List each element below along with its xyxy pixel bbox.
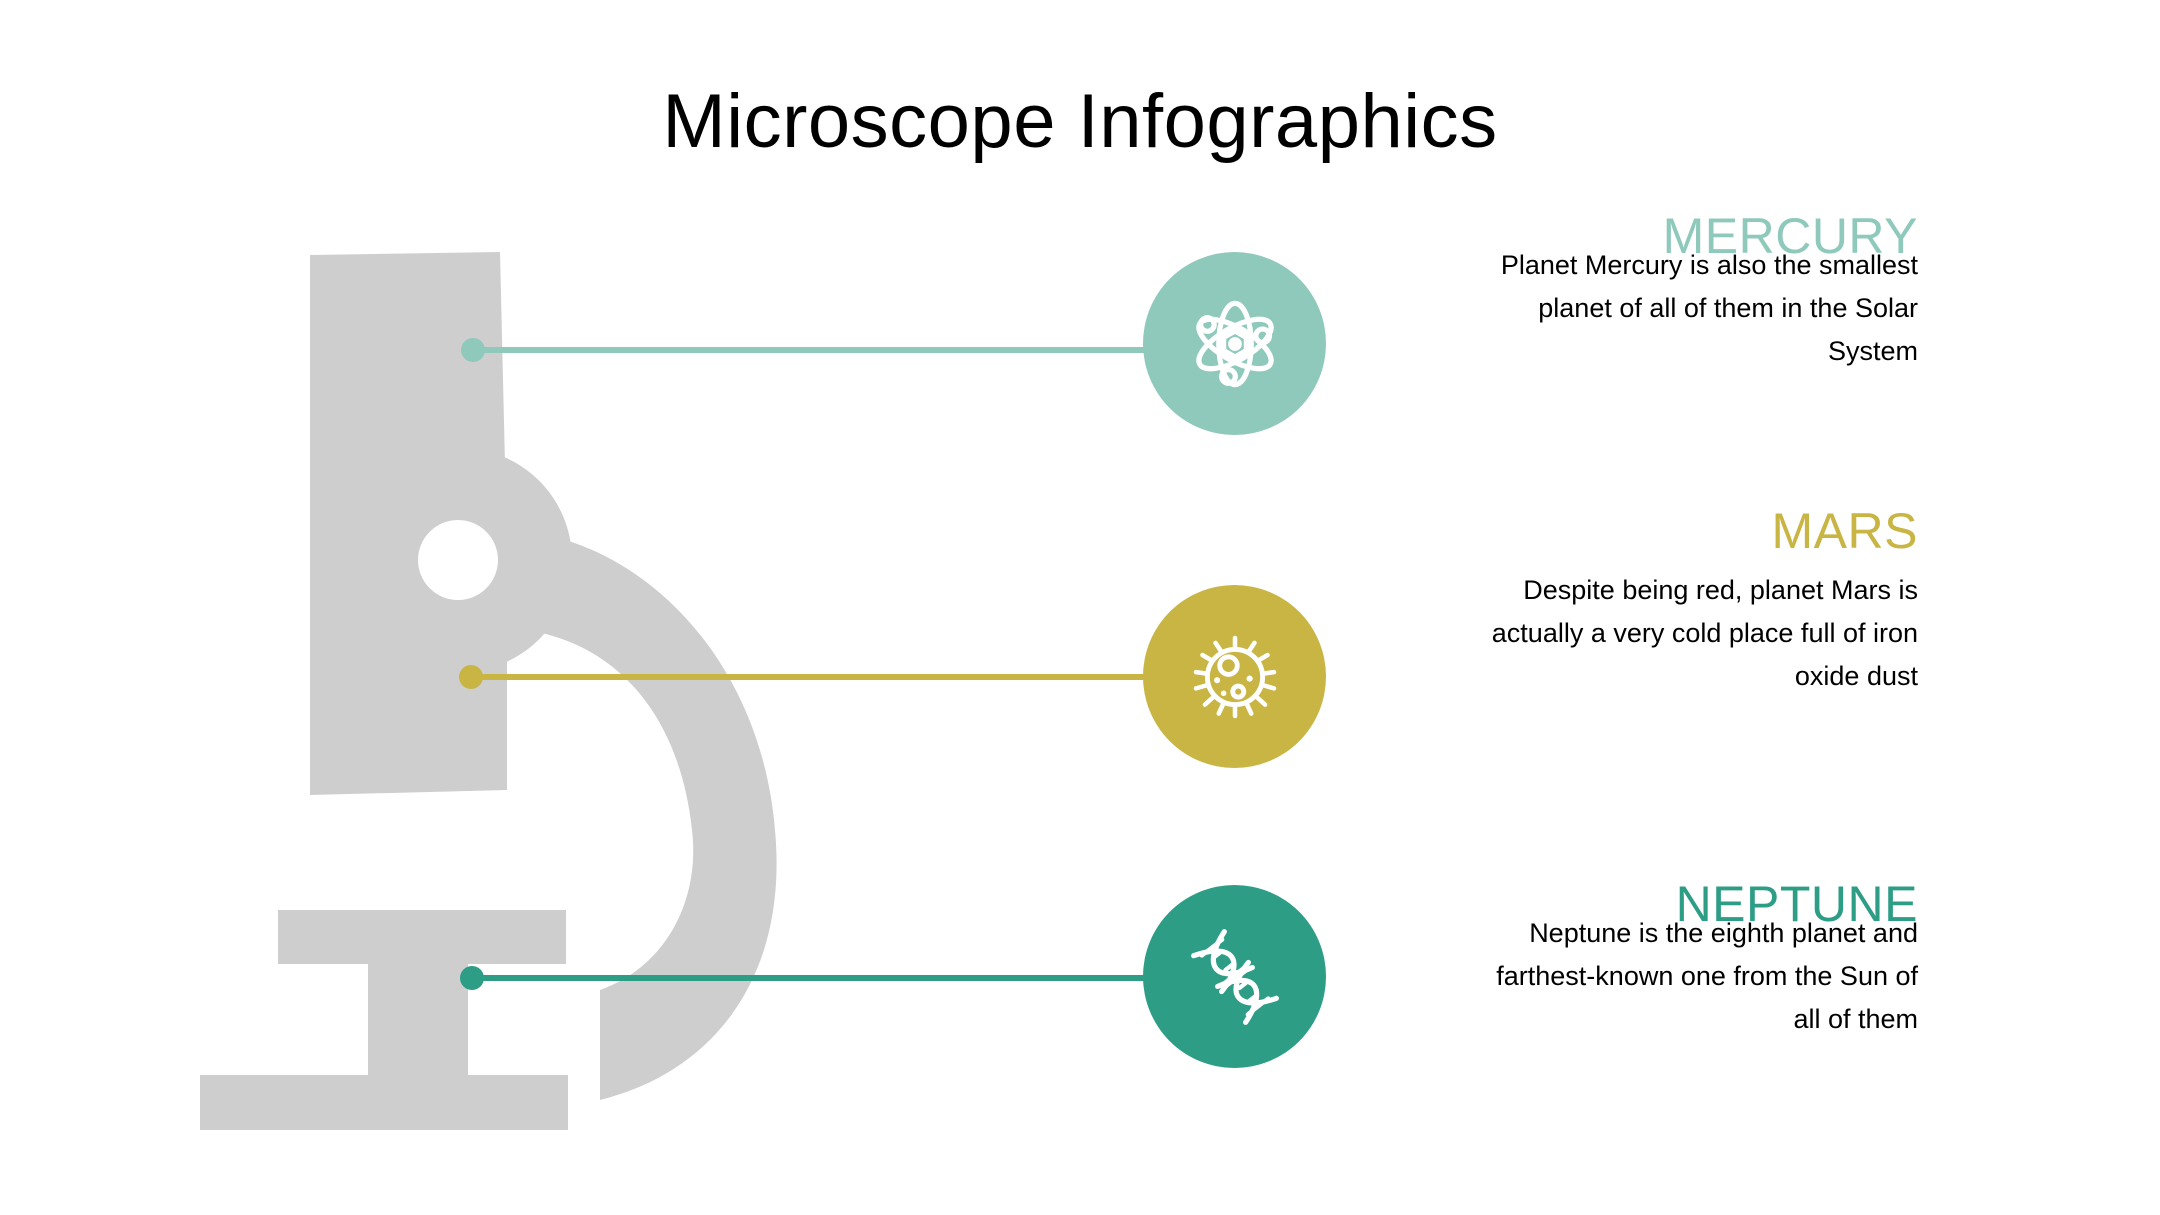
connector-line-mercury (473, 347, 1163, 353)
body-neptune: Neptune is the eighth planet and farthes… (1468, 912, 1918, 1041)
text-block-mars: MARS Despite being red, planet Mars is a… (1468, 497, 1918, 698)
icon-circle-mercury[interactable] (1143, 252, 1326, 435)
icon-circle-neptune[interactable] (1143, 885, 1326, 1068)
text-block-neptune: NEPTUNE Neptune is the eighth planet and… (1468, 870, 1918, 1041)
connector-dot-mars (459, 665, 483, 689)
page-title: Microscope Infographics (0, 82, 2160, 162)
heading-mars: MARS (1468, 497, 1918, 565)
dna-icon (1183, 925, 1287, 1029)
connector-dot-neptune (460, 966, 484, 990)
icon-circle-mars[interactable] (1143, 585, 1326, 768)
microscope-base (200, 1075, 568, 1130)
atom-icon (1183, 292, 1287, 396)
microscope-illustration (200, 230, 900, 1130)
text-block-mercury: MERCURY Planet Mercury is also the small… (1468, 202, 1918, 373)
body-mercury: Planet Mercury is also the smallest plan… (1468, 244, 1918, 373)
connector-line-neptune (472, 975, 1163, 981)
connector-line-mars (471, 674, 1163, 680)
infographic-canvas: Microscope Infographics (0, 0, 2160, 1215)
connector-dot-mercury (461, 338, 485, 362)
microscope-body-column (310, 252, 507, 795)
microbe-icon (1183, 625, 1287, 729)
microscope-aperture (418, 520, 498, 600)
body-mars: Despite being red, planet Mars is actual… (1468, 569, 1918, 698)
